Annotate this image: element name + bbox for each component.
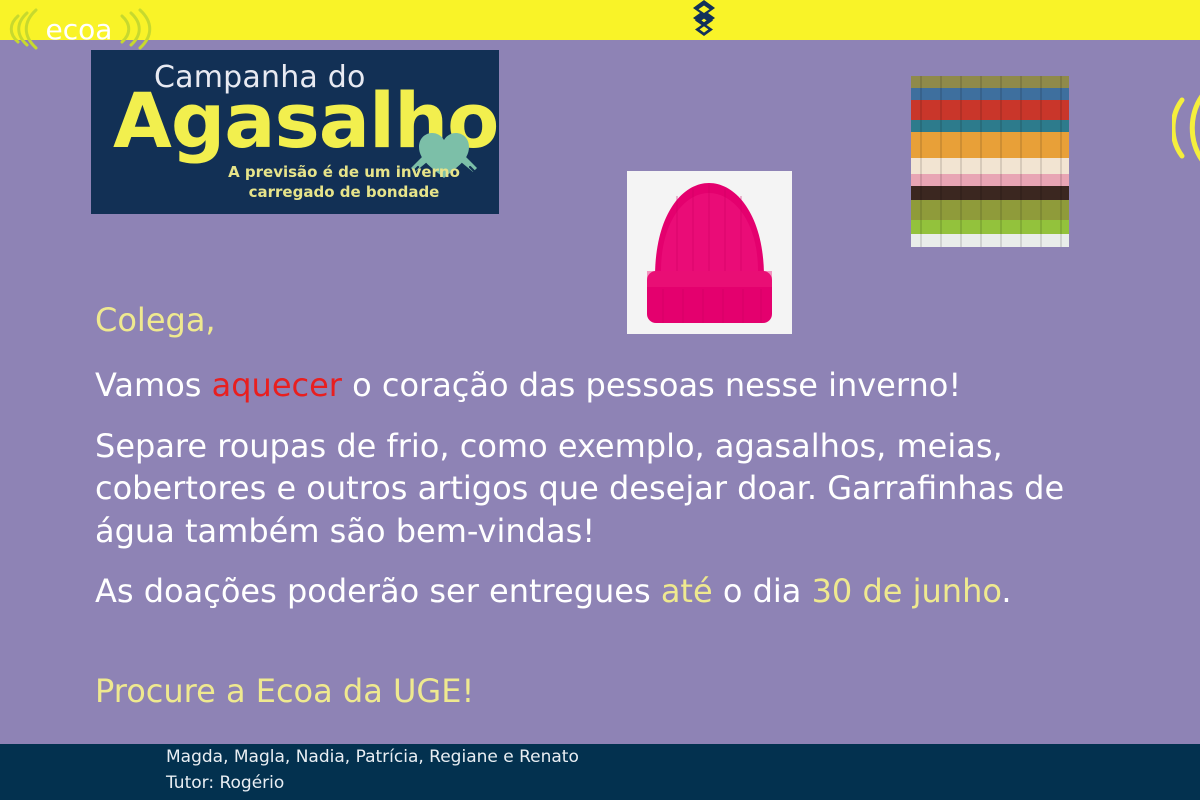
paragraph-prazo-highlight-data: 30 de junho — [812, 572, 1002, 610]
greeting-line: Colega, — [95, 300, 1135, 340]
slide-canvas: Campanha do Agasalho A previsão é de um … — [0, 0, 1200, 800]
paragraph-aquecer: Vamos aquecer o coração das pessoas ness… — [95, 364, 1135, 407]
stacked-knitwear-photo — [911, 76, 1069, 247]
paragraph-prazo-part3: . — [1001, 572, 1011, 610]
ecoa-logo-text: ecoa — [46, 13, 113, 46]
closing-line: Procure a Ecoa da UGE! — [95, 671, 1135, 713]
paragraph-prazo-highlight-ate: até — [661, 572, 713, 610]
campanha-agasalho-banner: Campanha do Agasalho A previsão é de um … — [91, 50, 499, 214]
ecoa-logo: ecoa — [4, 4, 154, 54]
message-body: Colega, Vamos aquecer o coração das pess… — [95, 300, 1135, 712]
paragraph-prazo-part2: o dia — [713, 572, 812, 610]
paragraph-aquecer-part2: o coração das pessoas nesse inverno! — [342, 366, 961, 404]
paragraph-itens: Separe roupas de frio, como exemplo, aga… — [95, 425, 1135, 553]
top-yellow-bar — [0, 0, 1200, 40]
sound-wave-arcs-icon — [1172, 88, 1200, 168]
paragraph-aquecer-part1: Vamos — [95, 366, 212, 404]
banco-do-brasil-logo — [684, 0, 724, 41]
footer-members: Magda, Magla, Nadia, Patrícia, Regiane e… — [166, 745, 579, 771]
footer-credits: Magda, Magla, Nadia, Patrícia, Regiane e… — [166, 745, 579, 796]
paragraph-aquecer-highlight: aquecer — [212, 366, 342, 404]
paragraph-prazo-part1: As doações poderão ser entregues — [95, 572, 661, 610]
footer-tutor: Tutor: Rogério — [166, 771, 579, 797]
paragraph-prazo: As doações poderão ser entregues até o d… — [95, 570, 1135, 613]
banner-subtitle: A previsão é de um inverno carregado de … — [219, 162, 469, 203]
